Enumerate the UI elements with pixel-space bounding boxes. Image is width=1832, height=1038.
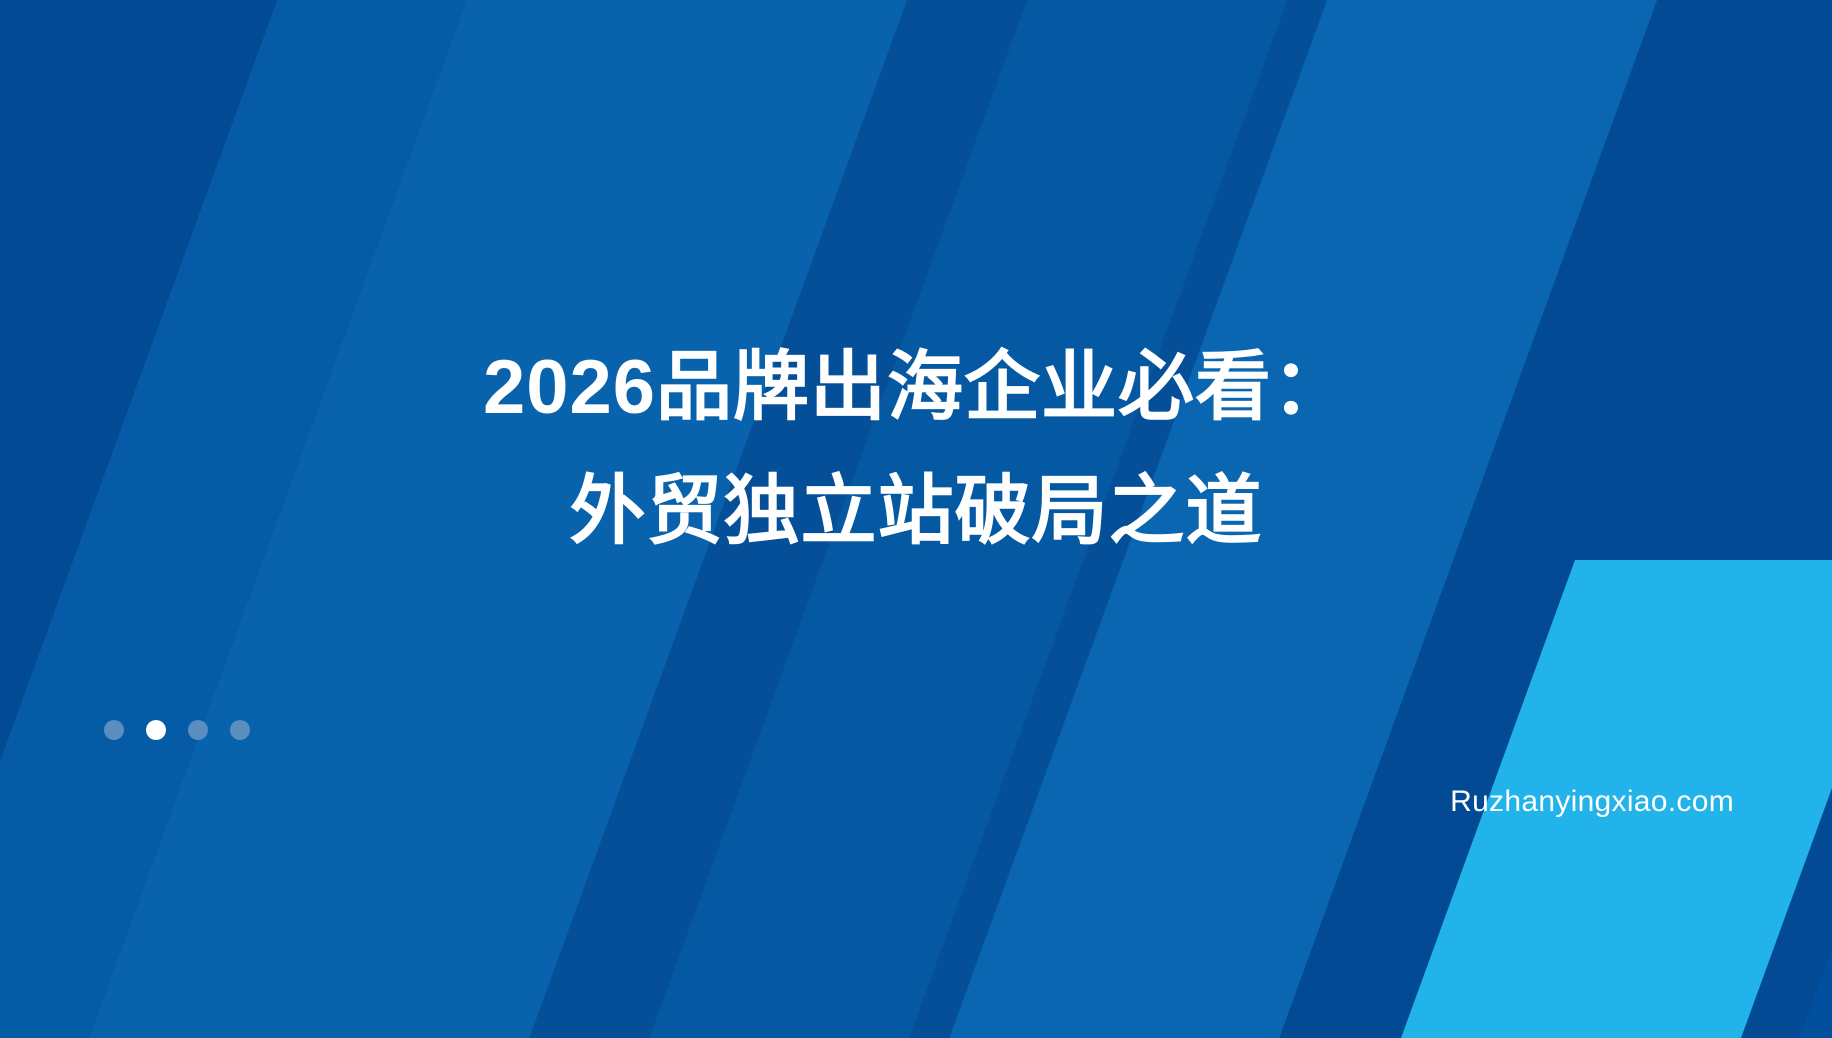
slide-canvas: 2026品牌出海企业必看： 外贸独立站破局之道 Ruzhanyingxiao.c… [0, 0, 1832, 1038]
footer-domain: Ruzhanyingxiao.com [1450, 785, 1734, 819]
pagination-dot-1[interactable] [104, 720, 124, 740]
pagination-dot-4[interactable] [230, 720, 250, 740]
slide-title: 2026品牌出海企业必看： 外贸独立站破局之道 [0, 326, 1832, 574]
pagination-dot-2[interactable] [146, 720, 166, 740]
pagination-dots[interactable] [104, 720, 250, 740]
pagination-dot-3[interactable] [188, 720, 208, 740]
title-line-1: 2026品牌出海企业必看： [0, 326, 1832, 450]
title-line-2: 外贸独立站破局之道 [0, 450, 1832, 574]
